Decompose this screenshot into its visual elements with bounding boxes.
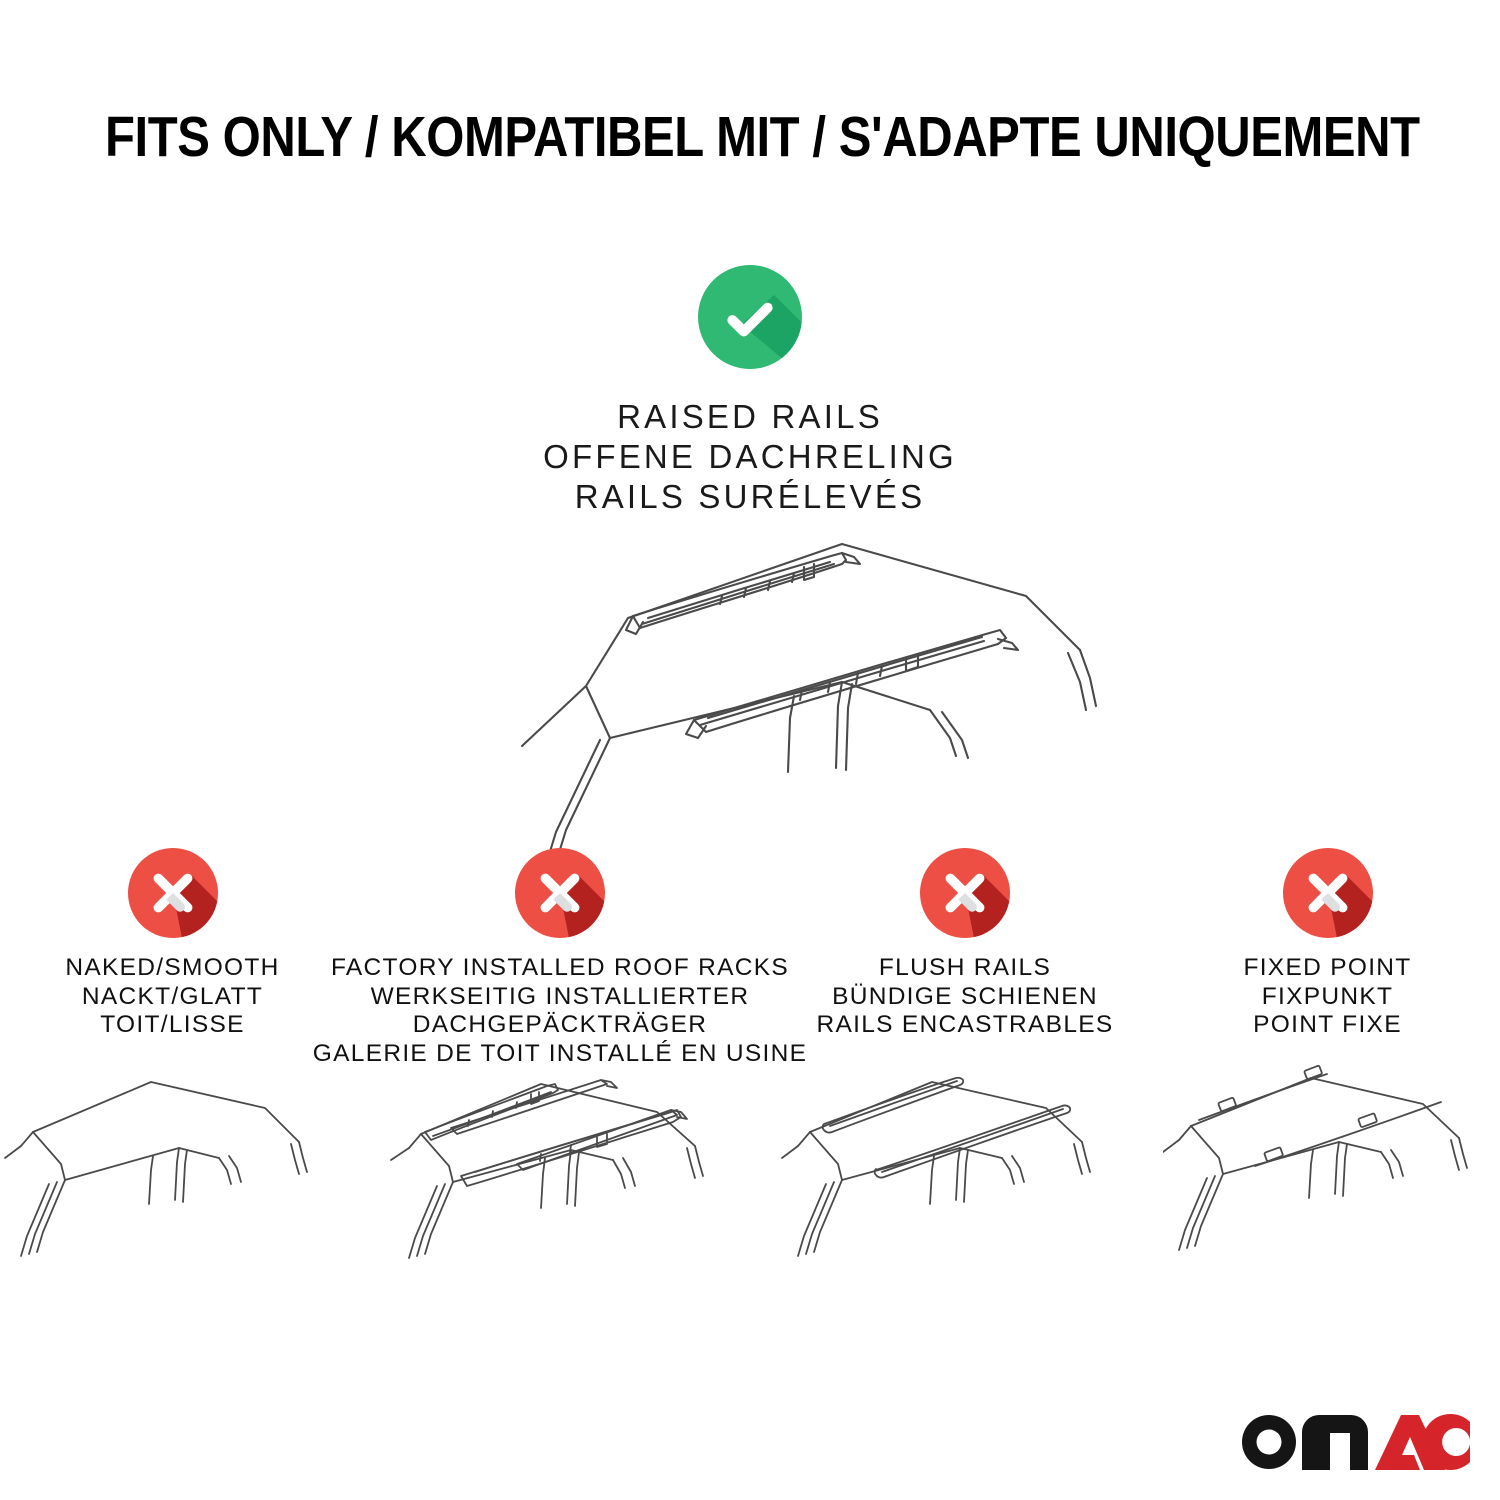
option-flush-rails-labels: FLUSH RAILS BÜNDIGE SCHIENEN RAILS ENCAS…	[816, 954, 1113, 1040]
option-label-line: BÜNDIGE SCHIENEN	[816, 983, 1113, 1012]
page-title: FITS ONLY / KOMPATIBEL MIT / S'ADAPTE UN…	[105, 104, 1395, 170]
compatible-section: RAISED RAILS OFFENE DACHRELING RAILS SUR…	[0, 265, 1500, 517]
option-factory-roof-racks-labels: FACTORY INSTALLED ROOF RACKS WERKSEITIG …	[313, 954, 807, 1068]
option-label-line: FLUSH RAILS	[816, 954, 1113, 983]
cross-circle-icon	[515, 848, 605, 938]
option-label-line: NAKED/SMOOTH	[65, 954, 279, 983]
cross-circle-icon	[1283, 848, 1373, 938]
option-fixed-point-labels: FIXED POINT FIXPUNKT POINT FIXE	[1243, 954, 1411, 1040]
option-factory-roof-racks: FACTORY INSTALLED ROOF RACKS WERKSEITIG …	[345, 848, 775, 1298]
option-label-line: NACKT/GLATT	[65, 983, 279, 1012]
car-roof-naked-illustration	[3, 1062, 343, 1272]
cross-circle-icon	[920, 848, 1010, 938]
option-flush-rails: FLUSH RAILS BÜNDIGE SCHIENEN RAILS ENCAS…	[775, 848, 1155, 1272]
option-fixed-point: FIXED POINT FIXPUNKT POINT FIXE	[1155, 848, 1500, 1272]
option-label-line: DACHGEPÄCKTRÄGER	[313, 1011, 807, 1040]
car-roof-flush-rails-illustration	[780, 1062, 1150, 1272]
compatible-labels: RAISED RAILS OFFENE DACHRELING RAILS SUR…	[0, 397, 1500, 517]
option-label-line: RAILS ENCASTRABLES	[816, 1011, 1113, 1040]
cross-circle-icon	[128, 848, 218, 938]
car-roof-factory-racks-illustration	[365, 1062, 755, 1298]
car-roof-raised-rails-illustration	[390, 500, 1110, 860]
check-circle-icon	[698, 265, 802, 369]
incompatible-section: NAKED/SMOOTH NACKT/GLATT TOIT/LISSE	[0, 848, 1500, 1298]
option-label-line: TOIT/LISSE	[65, 1011, 279, 1040]
option-label-line: FIXED POINT	[1243, 954, 1411, 983]
car-roof-fixed-point-illustration	[1163, 1062, 1493, 1272]
omac-logo	[1238, 1408, 1470, 1470]
option-label-line: WERKSEITIG INSTALLIERTER	[313, 983, 807, 1012]
option-label-line: POINT FIXE	[1243, 1011, 1411, 1040]
option-label-line: FACTORY INSTALLED ROOF RACKS	[313, 954, 807, 983]
option-label-line: FIXPUNKT	[1243, 983, 1411, 1012]
compatible-label-line-2: OFFENE DACHRELING	[0, 437, 1500, 477]
compatible-label-line-1: RAISED RAILS	[0, 397, 1500, 437]
option-naked-smooth-labels: NAKED/SMOOTH NACKT/GLATT TOIT/LISSE	[65, 954, 279, 1040]
option-naked-smooth: NAKED/SMOOTH NACKT/GLATT TOIT/LISSE	[0, 848, 345, 1272]
